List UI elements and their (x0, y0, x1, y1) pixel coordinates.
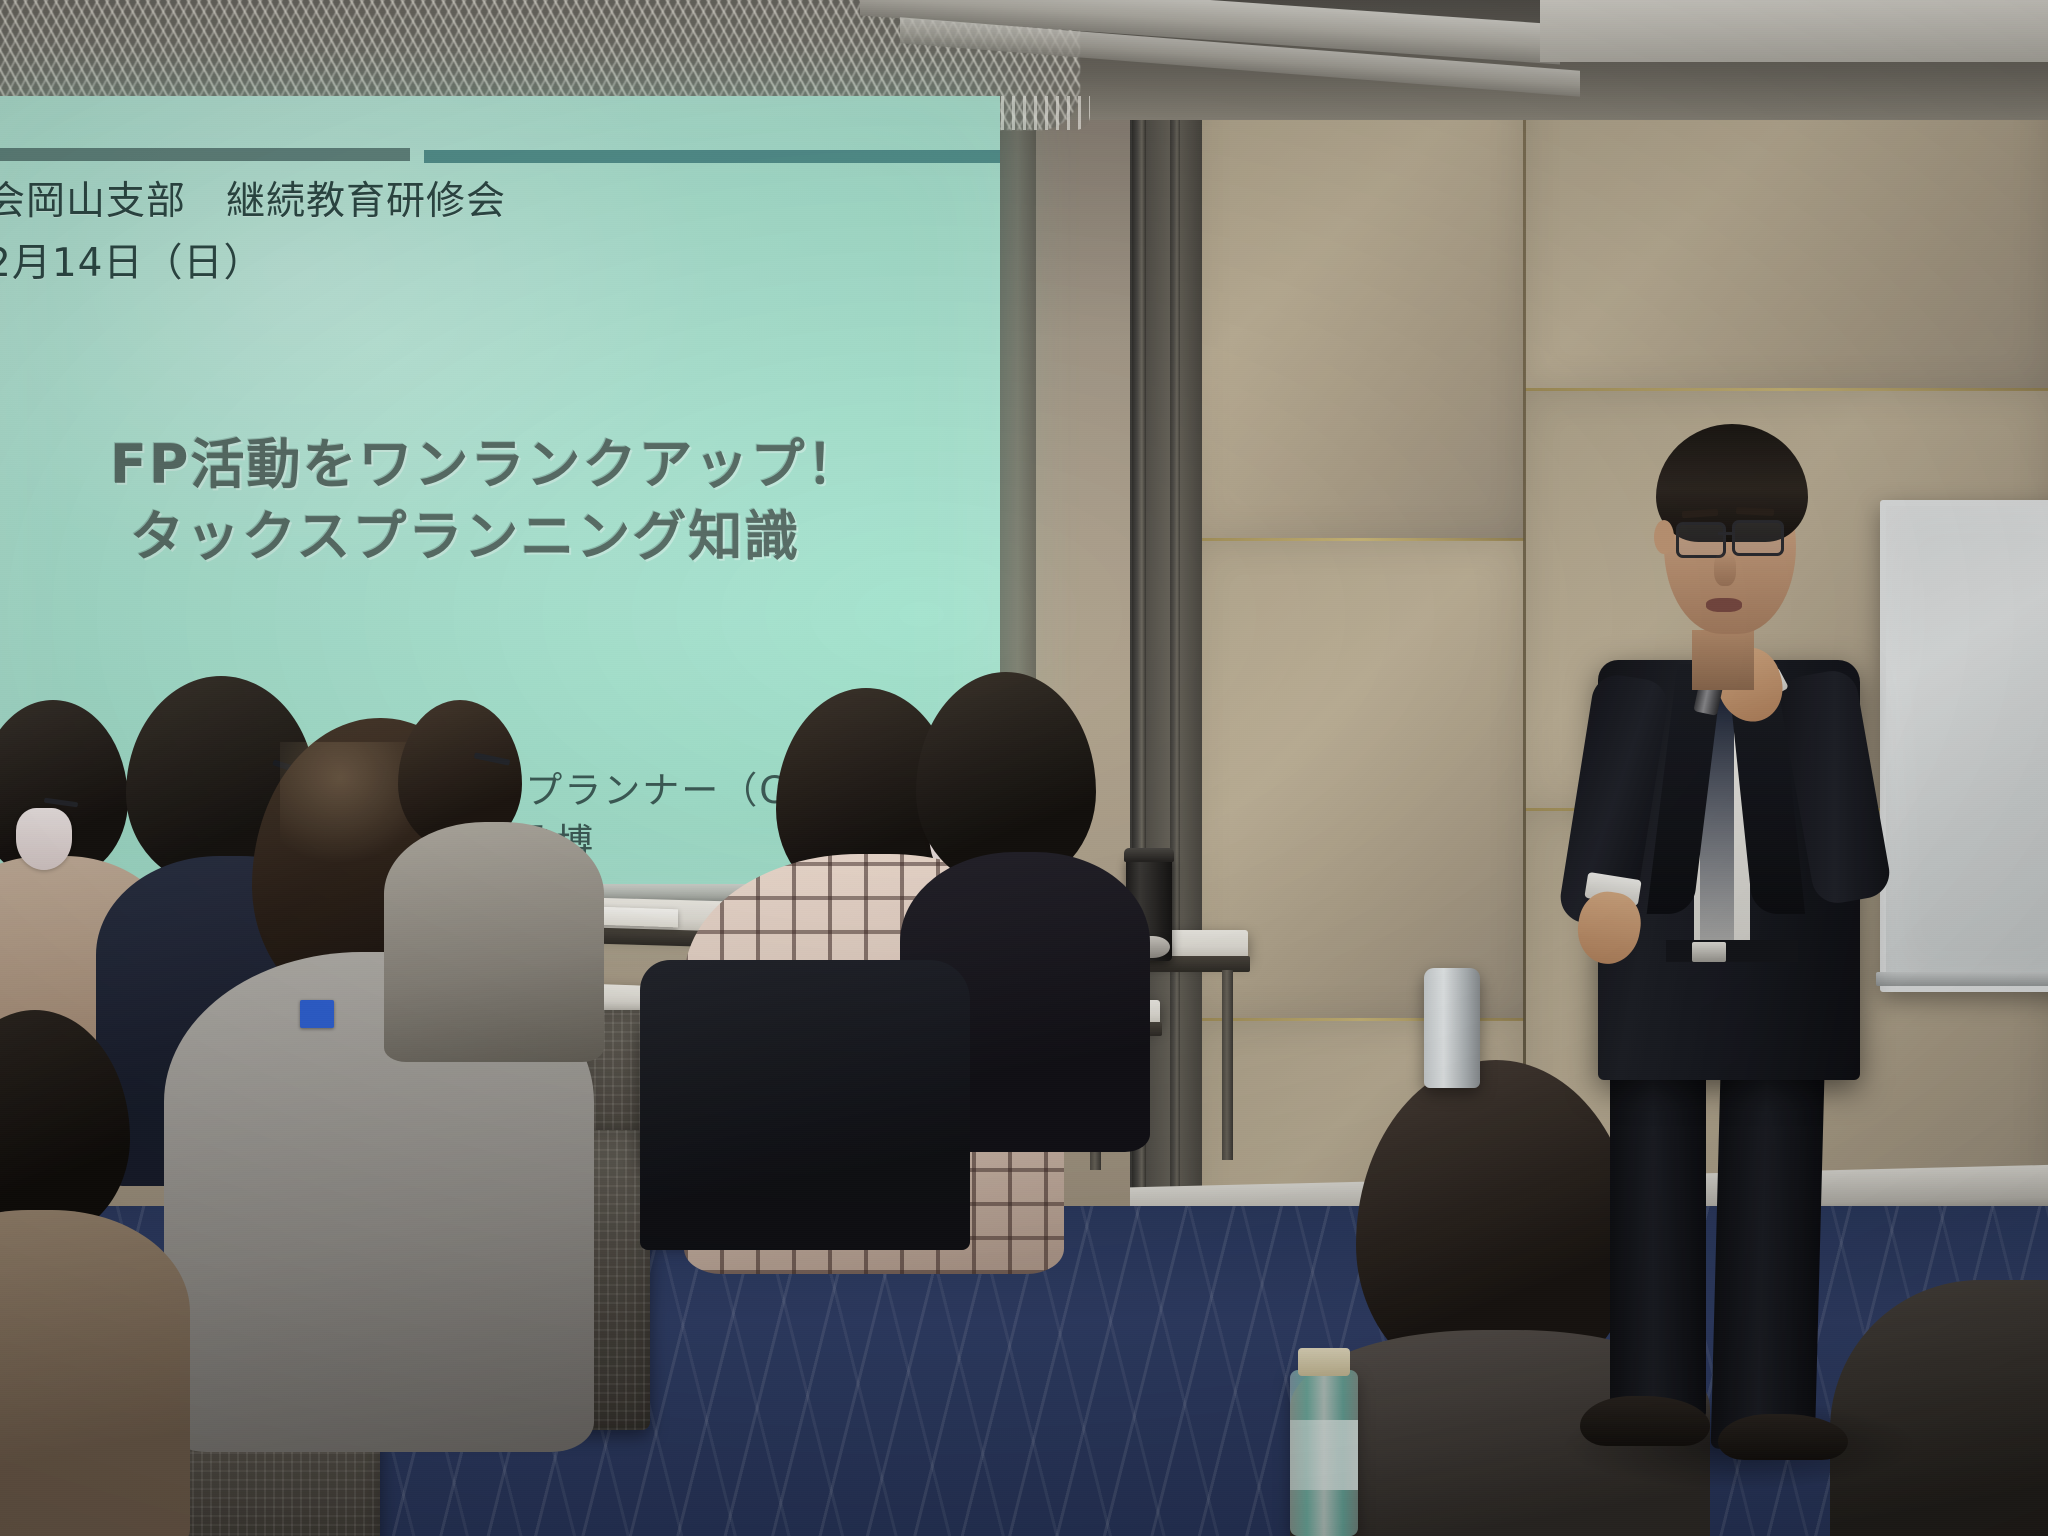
presenter (0, 0, 2048, 1536)
presenter-belt-buckle (1692, 942, 1726, 962)
presenter-eyeglasses-bridge (1718, 532, 1734, 535)
presenter-eyeglasses-right-lens (1732, 520, 1784, 556)
seminar-photo: 会岡山支部 継続教育研修会 2月14日（日） FP活動をワンランクアップ！ タッ… (0, 0, 2048, 1536)
presenter-belt (1666, 940, 1798, 962)
presenter-neck (1692, 630, 1754, 690)
presenter-shoe-right (1718, 1414, 1848, 1460)
presenter-mouth (1706, 598, 1742, 612)
presenter-leg-left (1610, 1050, 1706, 1420)
presenter-leg-right (1711, 1039, 1826, 1452)
presenter-nose (1714, 552, 1736, 586)
presenter-ear-left (1654, 520, 1674, 554)
